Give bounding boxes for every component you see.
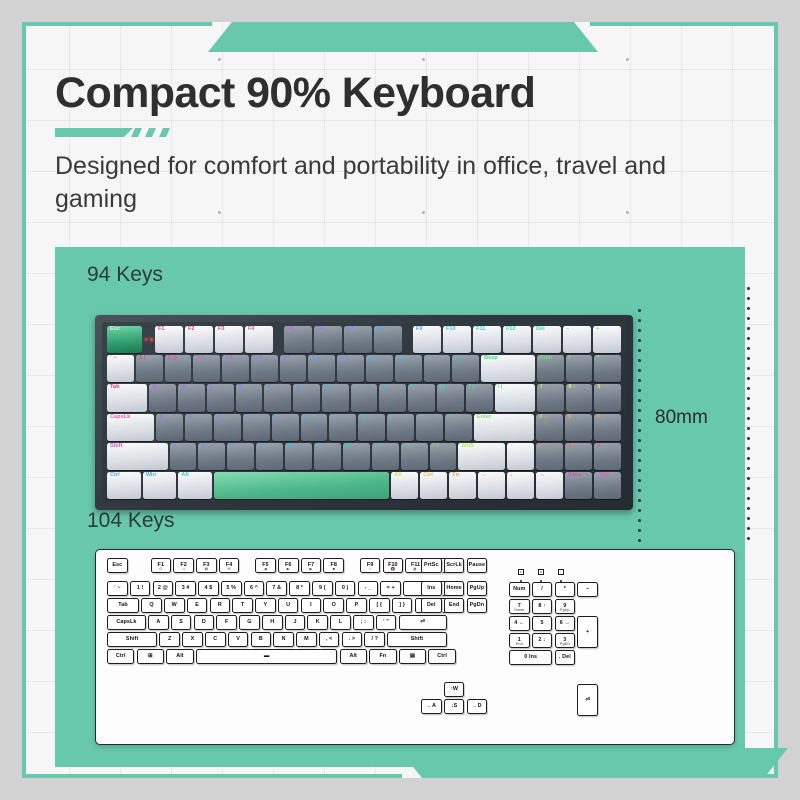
keycap[interactable]: 7 & [266, 581, 287, 596]
keycap[interactable]: 9PgUp [555, 599, 576, 614]
keycap[interactable]: ▬ [196, 649, 337, 664]
keycap-legend: 0 Ins [524, 654, 537, 660]
keycap-legend: Alt [181, 473, 188, 479]
keycap[interactable]: 5 [532, 616, 553, 631]
keycap[interactable]: * [555, 582, 576, 597]
keycap[interactable]: I [301, 598, 322, 613]
keycap-sublegend: 🔇 [384, 567, 403, 571]
keycap[interactable]: A [156, 414, 183, 441]
keycap-legend: ' " [383, 619, 389, 625]
keycap-legend: X [191, 636, 195, 642]
keycap[interactable]: G [272, 414, 299, 441]
keycap[interactable]: G [239, 615, 260, 630]
keycap-legend: + [596, 327, 599, 333]
keycap[interactable]: 9 ( [366, 355, 393, 382]
keycap[interactable]: CapsLk [107, 615, 146, 630]
keycap[interactable]: 4 $ [222, 355, 249, 382]
keycap[interactable]: W [164, 598, 185, 613]
keycap[interactable]: ` ~ [107, 355, 134, 382]
keycap[interactable]: F11 [473, 326, 501, 353]
keyboard-row: CapsLkASDFGHJKL; :' "⏎ [107, 615, 456, 630]
keycap[interactable]: F9♪ [360, 558, 381, 573]
keycap-legend: Ctrl [116, 653, 126, 659]
top-notch-banner [208, 22, 598, 52]
keycap-legend: 0 ) [398, 356, 405, 362]
keycap[interactable]: 0 ) [335, 581, 356, 596]
keycap[interactable]: R [210, 598, 231, 613]
keycap[interactable]: Pause [467, 558, 488, 573]
keycap-legend: Z [168, 636, 171, 642]
keycap[interactable] [214, 472, 389, 499]
keycap[interactable]: 6 → [594, 414, 621, 441]
keycap[interactable]: Win [143, 472, 177, 499]
keycap[interactable]: ] } [466, 384, 493, 411]
keycap[interactable]: / [566, 355, 593, 382]
keycap-legend: PgDn [470, 602, 484, 608]
keycap[interactable]: 2 @ [153, 581, 174, 596]
keycap[interactable]: R [236, 384, 263, 411]
keycap-legend: F4 [248, 327, 255, 333]
keycap-legend: = + [387, 585, 395, 591]
keycap[interactable]: Z [170, 443, 197, 470]
keycap-legend: Shift [411, 636, 423, 642]
keycap-legend: F8 [377, 327, 384, 333]
keycap-legend: E [195, 602, 199, 608]
label-94-keys: 94 Keys [87, 263, 163, 287]
keyboard-row: TabQWERTYUIOP[ {] }\ |78 ↑9 [107, 384, 621, 411]
keycap[interactable]: * [594, 355, 621, 382]
keycap[interactable]: 0 Ins [565, 472, 592, 499]
keycap[interactable]: 8 * [337, 355, 364, 382]
keycap-legend: K [361, 415, 365, 421]
keyboard-row: 4 ←56 → [509, 616, 598, 631]
keycap-legend: H [304, 415, 308, 421]
keycap[interactable]: , < [319, 632, 340, 647]
keycap[interactable]: 6 → [555, 616, 576, 631]
keycap[interactable]: 7 & [308, 355, 335, 382]
keycap[interactable]: PrtSc [421, 558, 442, 573]
keycap-legend: \ | [498, 385, 503, 391]
keycap[interactable]: 9 ( [312, 581, 333, 596]
keycap[interactable]: Home [444, 581, 465, 596]
keycap-legend: [ { [376, 602, 382, 608]
keycap[interactable]: F12 [503, 326, 531, 353]
keycap-legend: Ctrl [437, 653, 447, 659]
keycap-legend: A [159, 415, 163, 421]
keycap[interactable]: F3 [215, 326, 243, 353]
keycap[interactable]: Ctrl [420, 472, 447, 499]
page-subtitle: Designed for comfort and portability in … [55, 150, 715, 216]
keycap[interactable]: F1 [155, 326, 183, 353]
keycap[interactable]: . > [342, 632, 363, 647]
keycap[interactable]: F [216, 615, 237, 630]
keycap[interactable]: ↓S [444, 699, 465, 714]
keycap-legend: W [172, 602, 177, 608]
keycap-sublegend: ✉ [220, 567, 239, 571]
keycap[interactable]: →D [467, 699, 488, 714]
keycap[interactable]: Tab [107, 384, 147, 411]
keycap[interactable]: H [262, 615, 283, 630]
keycap-legend: 8 ↑ [538, 603, 546, 609]
keycap-legend: Num [540, 356, 552, 362]
keycap[interactable]: 4 $ [198, 581, 219, 596]
keycap-legend: R [239, 385, 243, 391]
keycap[interactable]: ScrLk [444, 558, 465, 573]
keycap-legend: 3 # [182, 585, 190, 591]
keycap[interactable]: I [351, 384, 378, 411]
keycap[interactable]: Num [509, 582, 530, 597]
keycap-legend: D [202, 619, 206, 625]
keycap-legend: F12 [506, 327, 516, 333]
keycap[interactable]: Alt [166, 649, 193, 664]
keycap[interactable]: B [251, 632, 272, 647]
keycap[interactable]: [ { [437, 384, 464, 411]
keycap-legend: 0 Ins [568, 473, 581, 479]
keycap-legend: / [541, 586, 543, 592]
keyboard-row: PrtScScrLkPause [421, 558, 487, 573]
key-spacer [242, 558, 253, 573]
keycap[interactable]: Alt [178, 472, 212, 499]
keycap[interactable]: F2◁ [173, 558, 194, 573]
label-104-keys: 104 Keys [87, 509, 175, 533]
keycap-legend: Fn [452, 473, 459, 479]
keycap[interactable]: ⏎ [577, 684, 598, 716]
keycap-legend: – [566, 327, 569, 333]
keycap-legend: Del [536, 327, 545, 333]
keycap[interactable]: F7 [344, 326, 372, 353]
keycap[interactable]: L [330, 615, 351, 630]
keycap[interactable]: Ins [421, 581, 442, 596]
keycap-legend: J [293, 619, 296, 625]
keycap[interactable]: P [408, 384, 435, 411]
keycap[interactable]: ⏎ [399, 615, 447, 630]
keycap-legend: ↓ [510, 473, 513, 479]
keycap-legend: I [354, 385, 356, 391]
keycap[interactable]: Shift [107, 443, 168, 470]
keycap-legend: U [286, 602, 290, 608]
keycap-legend: V [236, 636, 240, 642]
keycap-legend: Shift [110, 444, 122, 450]
keycap[interactable]: F4✉ [219, 558, 240, 573]
keycap-legend: 8 * [296, 585, 303, 591]
keycap[interactable]: H [301, 414, 328, 441]
keycap[interactable]: S [171, 615, 192, 630]
keyboard-row: ShiftZXCVBNM, <. >/ ?Shift↑12 ↓3 [107, 443, 621, 470]
keycap[interactable]: – [563, 326, 591, 353]
keycap-legend: 2 @ [168, 356, 178, 362]
keycap[interactable]: ' " [376, 615, 397, 630]
keycap[interactable]: Ctrl [107, 649, 134, 664]
scroll-lock-led: ↓ [551, 560, 571, 582]
key-spacer [130, 558, 149, 573]
keycap[interactable]: Ctrl [107, 472, 141, 499]
keycap[interactable]: \ | [495, 384, 535, 411]
keycap[interactable]: ↓ [507, 472, 534, 499]
keycap[interactable]: - _ [358, 581, 379, 596]
keycap-legend: . > [404, 444, 410, 450]
keycap-legend: End [449, 602, 459, 608]
keycap[interactable]: D [194, 615, 215, 630]
keycap[interactable]: Shift [387, 632, 446, 647]
keycap[interactable]: P [346, 598, 367, 613]
keycap[interactable]: 5 % [251, 355, 278, 382]
keycap[interactable]: 4 ← [509, 616, 530, 631]
keycap-legend: M [304, 636, 309, 642]
keycap[interactable]: , < [372, 443, 399, 470]
keycap[interactable]: F5 [284, 326, 312, 353]
keycap[interactable]: ] } [392, 598, 413, 613]
keycap[interactable]: = + [380, 581, 401, 596]
keycap-legend: * [597, 356, 599, 362]
keycap[interactable]: 3 # [175, 581, 196, 596]
keycap-legend: Ctrl [110, 473, 120, 479]
keycap-legend: 7 & [311, 356, 320, 362]
keycap[interactable]: O [323, 598, 344, 613]
keycap-legend: Tab [110, 385, 120, 391]
keycap[interactable]: → [536, 472, 563, 499]
keycap-legend: U [325, 385, 329, 391]
keycap-sublegend: ♪ [361, 567, 380, 571]
keycap[interactable]: 0 ) [395, 355, 422, 382]
keycap[interactable]: Del [533, 326, 561, 353]
keycap[interactable]: / [532, 582, 553, 597]
keycap-sublegend: Home [510, 608, 529, 612]
keycap[interactable]: F7▶ [301, 558, 322, 573]
keycap[interactable]: Num [537, 355, 564, 382]
keycap[interactable]: / ? [364, 632, 385, 647]
main-key-block: EscF1⏻F2◁F3▤F4✉F5◀F6▶F7▶F8■F9♪F10🔇F11🔉F1… [107, 558, 456, 664]
keycap[interactable]: 3PgDn [555, 633, 576, 648]
keycap-legend: Y [264, 602, 268, 608]
keycap[interactable]: ' " [445, 414, 472, 441]
keycap[interactable]: V [256, 443, 283, 470]
keycap-sublegend: ▶ [279, 567, 298, 571]
keycap[interactable]: Ctrl [428, 649, 455, 664]
keycap[interactable]: F5◀ [255, 558, 276, 573]
keycap-sublegend: End [510, 642, 529, 646]
keycap[interactable]: / ? [430, 443, 457, 470]
keycap[interactable]: S [185, 414, 212, 441]
keyboard-row: CtrlWinAltAltCtrlFn←↓→0 Ins. Del [107, 472, 621, 499]
keycap[interactable]: . > [401, 443, 428, 470]
keycap[interactable]: K [307, 615, 328, 630]
keycap[interactable]: Shift [107, 632, 157, 647]
keyboard-row: ShiftZXCVBNM, <. >/ ?Shift [107, 632, 456, 647]
keycap-legend: Y [296, 385, 300, 391]
keycap[interactable]: Bksp [481, 355, 535, 382]
keycap[interactable]: 2 ↓ [565, 443, 592, 470]
keycap[interactable]: X [198, 443, 225, 470]
keycap[interactable]: ←A [421, 699, 442, 714]
keycap-legend: , < [375, 444, 381, 450]
keycap[interactable]: . Del [555, 650, 576, 665]
keycap-legend: ` ~ [114, 585, 121, 591]
keycap[interactable]: 5 % [221, 581, 242, 596]
keycap[interactable]: CapsLk [107, 414, 154, 441]
keycap-legend: L [339, 619, 342, 625]
keycap[interactable]: 3 [594, 443, 621, 470]
keycap-legend: 4 ← [514, 620, 524, 626]
keyboard-row: 7Home8 ↑9PgUp+ [509, 599, 598, 614]
keycap[interactable]: W [178, 384, 205, 411]
keycap[interactable]: F [243, 414, 270, 441]
keycap[interactable]: K [358, 414, 385, 441]
keycap[interactable]: 7Home [509, 599, 530, 614]
keycap[interactable]: Shift [458, 443, 505, 470]
keycap[interactable]: = + [452, 355, 479, 382]
keycap[interactable]: Z [159, 632, 180, 647]
keycap[interactable]: X [182, 632, 203, 647]
keycap-legend: P [411, 385, 415, 391]
keycap[interactable]: PgDn [467, 598, 488, 613]
keycap[interactable]: . Del [594, 472, 621, 499]
keycap[interactable]: Del [421, 598, 442, 613]
keycap[interactable]: E [207, 384, 234, 411]
keycap-legend: J [332, 415, 335, 421]
keycap[interactable]: ⊞ [137, 649, 164, 664]
keycap[interactable]: O [379, 384, 406, 411]
keycap[interactable]: F1⏻ [151, 558, 172, 573]
keycap[interactable]: 0 Ins [509, 650, 552, 665]
keycap[interactable]: F8■ [323, 558, 344, 573]
keycap[interactable]: J [285, 615, 306, 630]
keycap-legend: 2 ↓ [538, 637, 546, 643]
keycap[interactable]: 8 * [289, 581, 310, 596]
keycap[interactable]: PgUp [467, 581, 488, 596]
keycap[interactable]: D [214, 414, 241, 441]
keycap[interactable]: F10 [443, 326, 471, 353]
keycap-legend: D [217, 415, 221, 421]
keycap[interactable]: 1End [509, 633, 530, 648]
keycap-legend: 6 → [560, 620, 570, 626]
keycap-legend: 3 [597, 444, 600, 450]
keycap[interactable]: C [205, 632, 226, 647]
keycap-legend: Fn [379, 653, 386, 659]
keycap-sublegend: PgDn [556, 642, 575, 646]
keycap-legend: 1 [539, 444, 542, 450]
keyboard-row: Num/*– [509, 582, 598, 597]
keycap[interactable]: Q [141, 598, 162, 613]
keycap-legend: Num [513, 586, 525, 592]
keycap-legend: 7 & [272, 585, 281, 591]
keycap[interactable]: F6 [314, 326, 342, 353]
keycap[interactable]: B [285, 443, 312, 470]
keycap-legend: Del [427, 602, 436, 608]
key-spacer [346, 558, 357, 573]
keycap[interactable]: 1 ! [130, 581, 151, 596]
keycap[interactable]: M [296, 632, 317, 647]
keycap[interactable]: J [329, 414, 356, 441]
keycap[interactable]: T [232, 598, 253, 613]
keycap[interactable]: Alt [391, 472, 418, 499]
key-spacer [275, 326, 282, 353]
keycap-legend: E [210, 385, 214, 391]
keycap[interactable]: F3▤ [196, 558, 217, 573]
keycap[interactable]: Fn [369, 649, 396, 664]
keycap[interactable]: ` ~ [107, 581, 128, 596]
keycap[interactable]: Esc [107, 558, 128, 573]
keycap[interactable]: Q [149, 384, 176, 411]
keycap[interactable]: ; : [353, 615, 374, 630]
caps-lock-led: A [531, 560, 551, 582]
keycap[interactable]: Alt [340, 649, 367, 664]
keycap[interactable]: 8 ↑ [566, 384, 593, 411]
keycap-legend: I [310, 602, 312, 608]
keycap[interactable]: - _ [424, 355, 451, 382]
keycap[interactable]: F10🔇 [383, 558, 404, 573]
keycap[interactable]: 4 ← [536, 414, 563, 441]
keycap[interactable]: F2 [185, 326, 213, 353]
keycap[interactable]: 9 [594, 384, 621, 411]
keycap-legend: 8 ↑ [569, 385, 576, 391]
navigation-key-cluster: PrtScScrLkPauseInsHomePgUpDelEndPgDn [421, 558, 487, 613]
keycap[interactable]: ▤ [399, 649, 426, 664]
keycap[interactable]: End [444, 598, 465, 613]
keycap[interactable]: F9 [413, 326, 441, 353]
keycap-legend: / [569, 356, 571, 362]
keycap-sublegend: ◀ [256, 567, 275, 571]
keycap[interactable]: 1 [536, 443, 563, 470]
keycap-legend: 4 $ [205, 585, 213, 591]
keycap[interactable]: 1 ! [136, 355, 163, 382]
keycap[interactable]: Esc [107, 326, 142, 353]
keycap[interactable]: – [577, 582, 598, 597]
keycap[interactable]: F4 [245, 326, 273, 353]
keycap[interactable]: 5 [565, 414, 592, 441]
keycap[interactable]: T [264, 384, 291, 411]
keycap[interactable]: F8 [374, 326, 402, 353]
keycap[interactable]: 8 ↑ [532, 599, 553, 614]
keycap[interactable]: U [278, 598, 299, 613]
keycap[interactable]: Y [255, 598, 276, 613]
keycap[interactable]: Y [293, 384, 320, 411]
keycap[interactable]: 3 # [193, 355, 220, 382]
keycap[interactable]: ↑ [507, 443, 534, 470]
keycap[interactable]: N [314, 443, 341, 470]
keycap[interactable]: A [148, 615, 169, 630]
keycap-legend: PrtSc [424, 562, 439, 568]
page-title: Compact 90% Keyboard [55, 69, 535, 118]
keycap-legend: W [181, 385, 186, 391]
keycap[interactable]: ↑W [444, 682, 465, 697]
keycap[interactable]: Enter [474, 414, 535, 441]
keycap[interactable]: + [593, 326, 621, 353]
keycap[interactable]: U [322, 384, 349, 411]
keycap[interactable]: 6 ^ [244, 581, 265, 596]
keycap[interactable]: L [387, 414, 414, 441]
keycap-legend: PgUp [470, 585, 484, 591]
keycap-legend: Win [146, 473, 156, 479]
keycap[interactable]: C [227, 443, 254, 470]
keycap[interactable]: F6▶ [278, 558, 299, 573]
keycap[interactable]: Tab [107, 598, 139, 613]
keycap[interactable]: 6 ^ [280, 355, 307, 382]
keycap[interactable]: 2 ↓ [532, 633, 553, 648]
keycap-legend: X [201, 444, 205, 450]
keycap-legend: B [259, 636, 263, 642]
keycap[interactable]: 7 [537, 384, 564, 411]
keycap[interactable]: N [273, 632, 294, 647]
keycap[interactable]: E [187, 598, 208, 613]
product-showcase-panel: 94 Keys 104 Keys 80mm EscF1F2F3F4F5F6F7F… [55, 247, 745, 767]
keycap[interactable]: 2 @ [165, 355, 192, 382]
keycap[interactable]: ; : [416, 414, 443, 441]
keycap[interactable]: [ { [369, 598, 390, 613]
keycap[interactable]: Fn [449, 472, 476, 499]
keycap[interactable]: ← [478, 472, 505, 499]
keycap[interactable]: M [343, 443, 370, 470]
keycap[interactable]: V [228, 632, 249, 647]
